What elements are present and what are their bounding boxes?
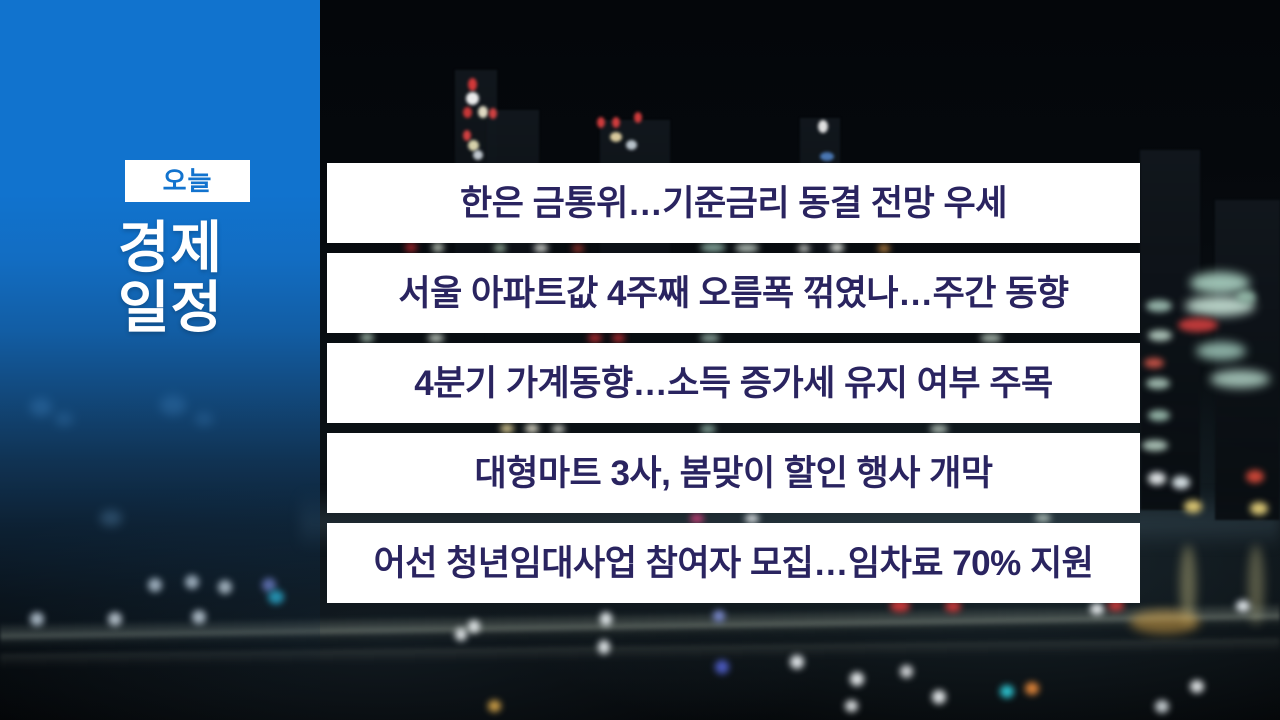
city-light — [463, 107, 472, 118]
city-light — [1148, 330, 1172, 341]
city-light — [1155, 700, 1169, 713]
city-light — [1246, 470, 1264, 483]
city-light — [597, 117, 605, 128]
city-light — [610, 132, 622, 142]
city-light — [1196, 342, 1246, 360]
city-light — [1210, 370, 1270, 388]
program-branding-inner: 오늘 경제 일정 — [0, 0, 320, 720]
city-light — [463, 130, 471, 141]
headline-item-2: 서울 아파트값 4주째 오름폭 꺾였나…주간 동향 — [327, 253, 1140, 333]
page-title: 경제 일정 — [118, 218, 308, 339]
city-light — [845, 700, 858, 712]
city-light — [820, 152, 834, 161]
city-light — [478, 106, 488, 118]
city-light — [900, 665, 913, 678]
city-light — [715, 660, 729, 674]
city-light — [489, 108, 497, 119]
city-light — [1146, 300, 1172, 312]
headline-text: 4분기 가계동향…소득 증가세 유지 여부 주목 — [414, 366, 1053, 401]
city-light — [466, 92, 479, 105]
broadcast-lower-third-screen: 오늘 경제 일정 한은 금통위…기준금리 동결 전망 우세 서울 아파트값 4주… — [0, 0, 1280, 720]
headline-text: 어선 청년임대사업 참여자 모집…임차료 70% 지원 — [374, 546, 1094, 581]
today-badge-label: 오늘 — [163, 168, 213, 194]
program-branding-panel: 오늘 경제 일정 — [0, 0, 320, 720]
city-light — [1236, 290, 1256, 304]
city-light — [1090, 603, 1104, 615]
city-light — [598, 640, 610, 654]
city-light — [468, 78, 477, 91]
city-light — [1148, 472, 1166, 485]
city-light — [1172, 476, 1190, 489]
city-light — [1190, 680, 1204, 693]
city-light — [626, 140, 637, 150]
headline-item-4: 대형마트 3사, 봄맞이 할인 행사 개막 — [327, 433, 1140, 513]
city-light — [612, 117, 620, 128]
city-light — [1148, 410, 1170, 421]
page-title-line-2: 일정 — [118, 278, 308, 338]
headline-item-5: 어선 청년임대사업 참여자 모집…임차료 70% 지원 — [327, 523, 1140, 603]
city-light — [818, 120, 828, 133]
city-light — [1236, 600, 1250, 612]
city-light — [1025, 682, 1039, 695]
city-light — [600, 612, 612, 626]
headline-item-3: 4분기 가계동향…소득 증가세 유지 여부 주목 — [327, 343, 1140, 423]
city-light — [1184, 500, 1202, 513]
headline-text: 서울 아파트값 4주째 오름폭 꺾였나…주간 동향 — [398, 276, 1068, 311]
headline-text: 한은 금통위…기준금리 동결 전망 우세 — [460, 186, 1007, 221]
city-light — [473, 150, 483, 160]
headline-text: 대형마트 3사, 봄맞이 할인 행사 개막 — [474, 456, 992, 491]
city-light — [790, 655, 804, 669]
city-light — [488, 700, 501, 712]
city-light — [1142, 440, 1168, 451]
city-light — [1000, 685, 1014, 698]
headline-item-1: 한은 금통위…기준금리 동결 전망 우세 — [327, 163, 1140, 243]
city-light — [1144, 358, 1164, 368]
today-badge: 오늘 — [125, 160, 250, 202]
city-light — [1178, 318, 1218, 332]
page-title-line-1: 경제 — [118, 218, 308, 278]
city-light — [455, 628, 467, 641]
city-light — [1146, 378, 1170, 389]
headline-list: 한은 금통위…기준금리 동결 전망 우세 서울 아파트값 4주째 오름폭 꺾였나… — [327, 163, 1140, 603]
city-light — [932, 690, 946, 704]
city-light — [850, 672, 864, 686]
city-light — [468, 620, 480, 633]
city-light — [1250, 502, 1268, 515]
city-light — [634, 112, 642, 123]
city-light — [1130, 610, 1200, 634]
city-light — [713, 610, 725, 622]
